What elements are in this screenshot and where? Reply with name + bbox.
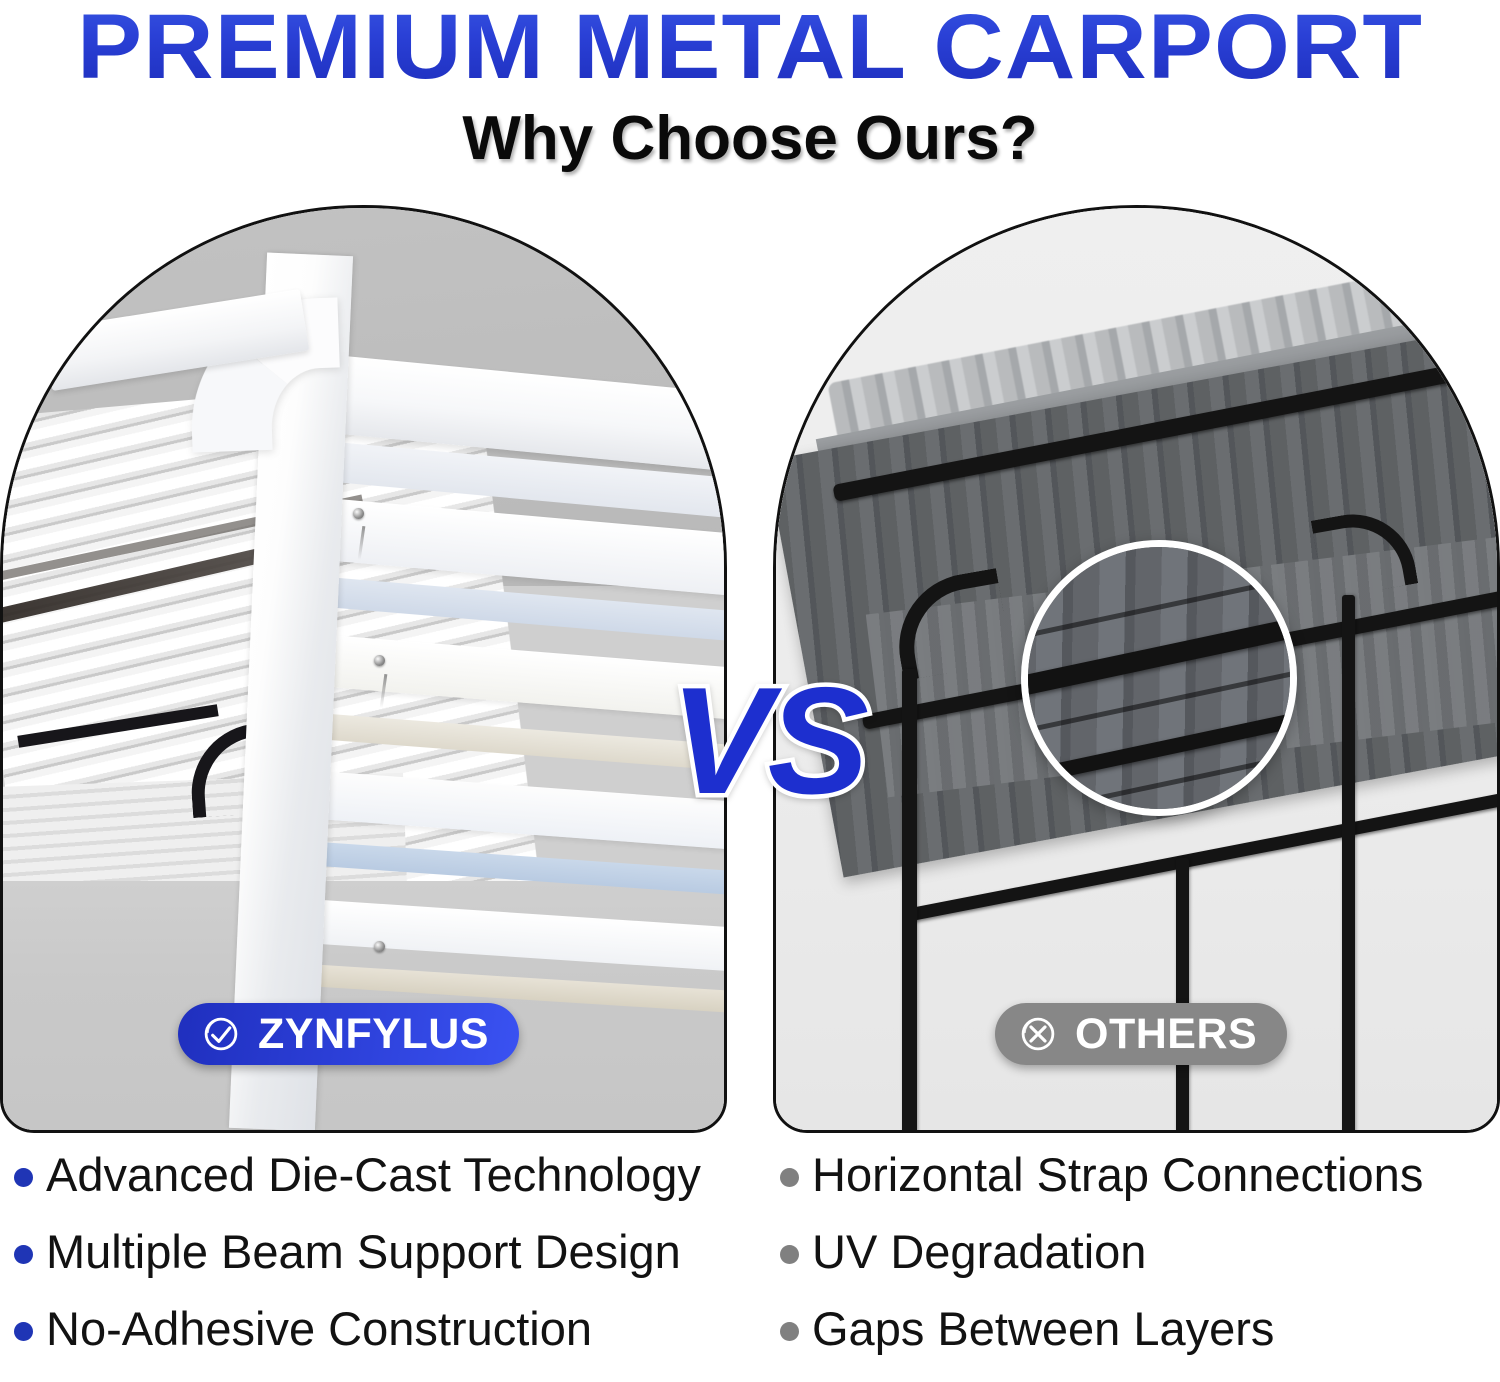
cons-list: Horizontal Strap Connections UV Degradat… [780, 1150, 1500, 1381]
photo-roof-rails [291, 337, 724, 1056]
header: PREMIUM METAL CARPORT Why Choose Ours? [0, 0, 1500, 170]
comparison-panels [0, 205, 1500, 1140]
roof-rail [290, 898, 724, 978]
list-item: Horizontal Strap Connections [780, 1150, 1500, 1227]
bullet-dot-icon [14, 1322, 33, 1341]
feature-lists: Advanced Die-Cast Technology Multiple Be… [0, 1150, 1500, 1382]
brand-badge-others[interactable]: OTHERS [995, 1003, 1287, 1065]
brand-badge-zynfylus[interactable]: ZYNFYLUS [178, 1003, 519, 1065]
roof-rail [289, 632, 724, 727]
cross-circle-icon [1017, 1013, 1059, 1055]
list-item: UV Degradation [780, 1227, 1500, 1304]
pros-item-label: No-Adhesive Construction [46, 1304, 592, 1353]
cons-item-label: Horizontal Strap Connections [812, 1150, 1423, 1199]
list-item: Multiple Beam Support Design [14, 1227, 754, 1304]
list-item: Gaps Between Layers [780, 1304, 1500, 1381]
photo-screw [353, 508, 364, 519]
photo-frame-leg [1176, 858, 1189, 1130]
pros-item-label: Multiple Beam Support Design [46, 1227, 681, 1276]
pros-list: Advanced Die-Cast Technology Multiple Be… [14, 1150, 754, 1381]
white-carport-photo [3, 208, 724, 1130]
others-badge-label: OTHERS [1075, 1013, 1257, 1056]
roof-rail [291, 841, 724, 903]
list-item: Advanced Die-Cast Technology [14, 1150, 754, 1227]
page-subtitle: Why Choose Ours? [0, 108, 1500, 170]
check-circle-icon [200, 1013, 242, 1055]
bullet-dot-icon [780, 1322, 799, 1341]
panel-ours-image [3, 208, 724, 1130]
brand-badge-label: ZYNFYLUS [258, 1013, 489, 1056]
cons-item-label: UV Degradation [812, 1227, 1146, 1276]
roof-rail [290, 769, 724, 856]
panel-ours [0, 205, 727, 1133]
panel-others-image [776, 208, 1497, 1130]
pros-item-label: Advanced Die-Cast Technology [46, 1150, 701, 1199]
cons-item-label: Gaps Between Layers [812, 1304, 1274, 1353]
dark-carport-photo [776, 208, 1497, 1130]
panel-others [773, 205, 1500, 1133]
photo-frame-leg [902, 669, 917, 1130]
bullet-dot-icon [780, 1245, 799, 1264]
page-title: PREMIUM METAL CARPORT [0, 2, 1500, 92]
photo-frame-leg [1342, 595, 1355, 1130]
bullet-dot-icon [14, 1245, 33, 1264]
magnifier-circle [1021, 540, 1297, 816]
bullet-dot-icon [14, 1168, 33, 1187]
bullet-dot-icon [780, 1168, 799, 1187]
roof-rail [290, 711, 724, 778]
list-item: No-Adhesive Construction [14, 1304, 754, 1381]
